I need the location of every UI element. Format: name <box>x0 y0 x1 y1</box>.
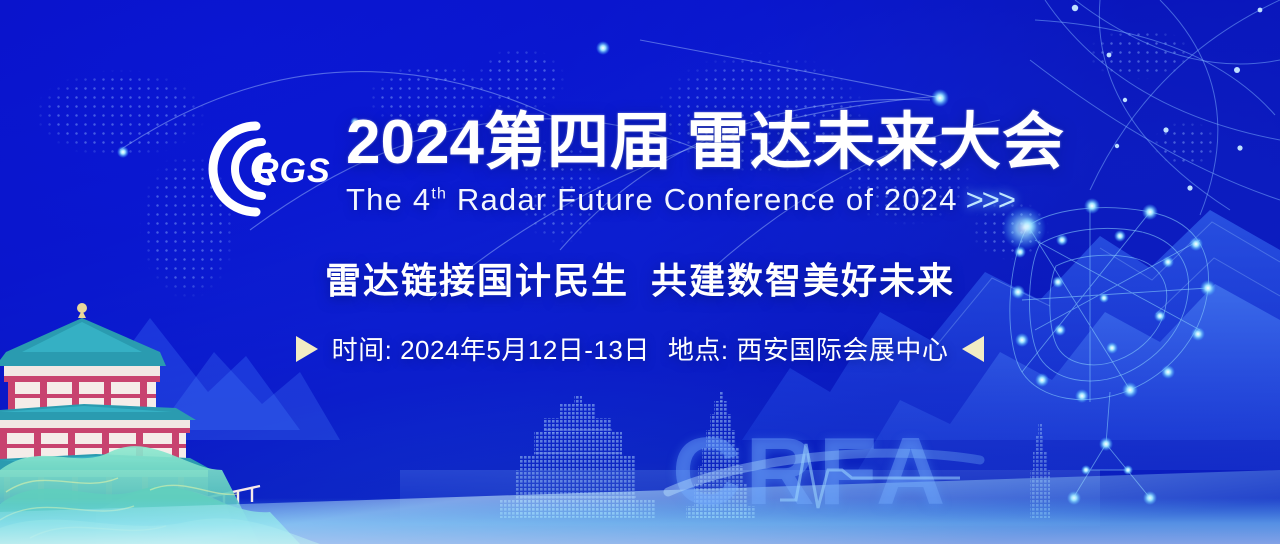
place-label: 地点: <box>668 335 729 365</box>
time-value: 2024年5月12日-13日 <box>400 335 650 365</box>
title-block: 2024第四届雷达未来大会 The 4th Radar Future Confe… <box>346 110 1065 218</box>
subtitle-rest: Radar Future Conference of 2024 <box>457 182 958 217</box>
time-label: 时间: <box>332 335 393 365</box>
tagline-left: 雷达链接国计民生 <box>325 260 629 301</box>
play-triangle-left-icon <box>962 336 984 362</box>
title-edition: 第四届 <box>484 108 673 177</box>
crgs-wordmark: RGS <box>254 152 331 190</box>
event-details-text: 时间: 2024年5月12日-13日地点: 西安国际会展中心 <box>332 330 949 367</box>
place-value: 西安国际会展中心 <box>736 335 948 365</box>
subtitle-lead: The <box>346 182 403 217</box>
crgs-logo: RGS <box>196 116 338 222</box>
title-year: 2024 <box>346 108 484 177</box>
chevron-arrows-icon: >>> <box>966 182 1014 217</box>
event-details-bar: 时间: 2024年5月12日-13日地点: 西安国际会展中心 <box>0 330 1280 367</box>
subtitle-ordinal: 4 <box>413 182 431 217</box>
tagline: 雷达链接国计民生共建数智美好未来 <box>0 252 1280 304</box>
tagline-right: 共建数智美好未来 <box>651 260 955 301</box>
play-triangle-right-icon <box>296 336 318 362</box>
subtitle-ordinal-suffix: th <box>431 185 447 202</box>
page-subtitle: The 4th Radar Future Conference of 2024>… <box>346 182 1065 218</box>
title-name: 雷达未来大会 <box>687 108 1065 177</box>
conference-banner: CRFA RGS 2024第四届雷达未来大会 The 4th <box>0 0 1280 544</box>
crgs-radar-logo: RGS <box>196 116 338 222</box>
page-title: 2024第四届雷达未来大会 <box>346 110 1065 176</box>
